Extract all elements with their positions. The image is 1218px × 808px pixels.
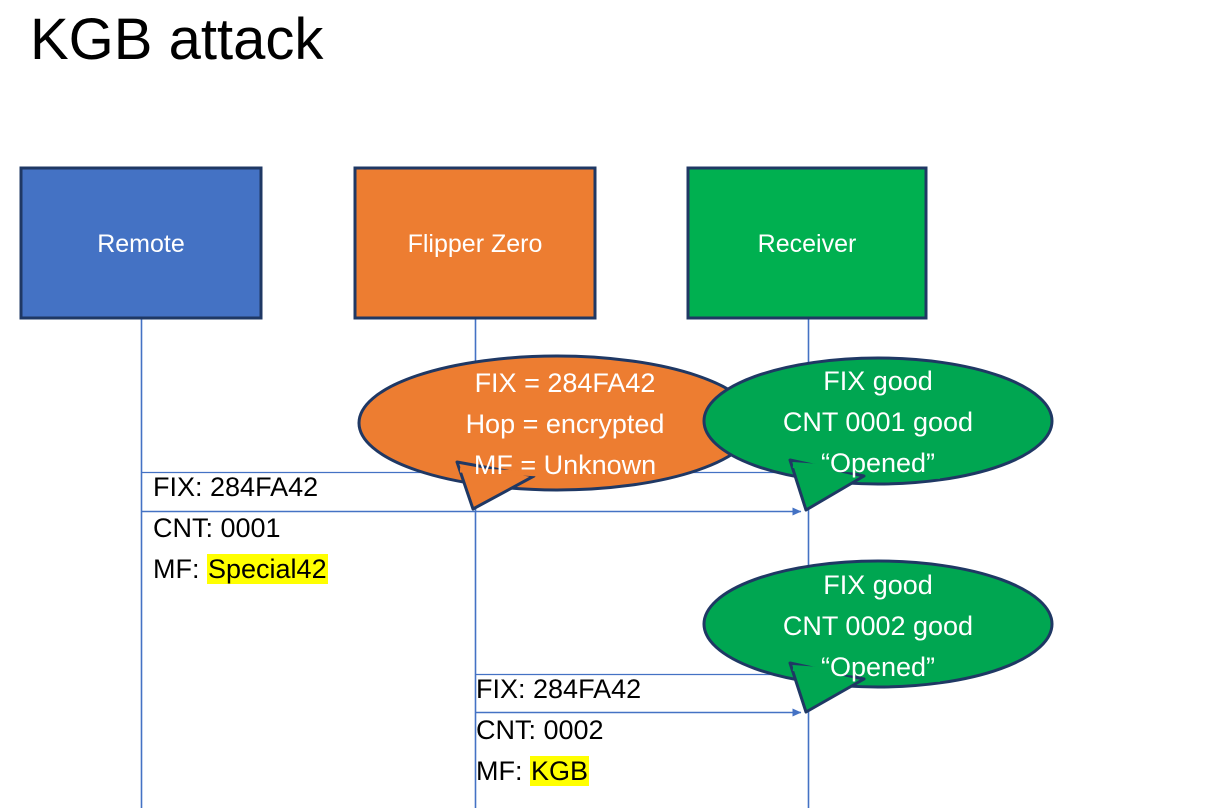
message-label: MF: xyxy=(476,756,530,786)
message-label: MF: xyxy=(153,554,207,584)
message-label: CNT: xyxy=(476,715,544,745)
message-value: 284FA42 xyxy=(210,472,318,502)
message-labels-flipper-to-receiver: FIX: 284FA42 CNT: 0002 MF: KGB xyxy=(476,669,641,792)
message-line: CNT: 0002 xyxy=(476,710,641,751)
message-line: MF: Special42 xyxy=(153,549,328,590)
message-labels-remote-to-receiver: FIX: 284FA42 CNT: 0001 MF: Special42 xyxy=(153,467,328,590)
message-value-highlighted: KGB xyxy=(530,756,589,786)
message-line: FIX: 284FA42 xyxy=(153,467,328,508)
message-value: 284FA42 xyxy=(533,674,641,704)
callout-receiver-second[interactable] xyxy=(704,561,1052,712)
message-label: FIX: xyxy=(153,472,210,502)
message-line: MF: KGB xyxy=(476,751,641,792)
message-value: 0002 xyxy=(544,715,604,745)
message-label: FIX: xyxy=(476,674,533,704)
message-line: FIX: 284FA42 xyxy=(476,669,641,710)
slide-canvas: KGB attack xyxy=(0,0,1218,808)
message-line: CNT: 0001 xyxy=(153,508,328,549)
message-label: CNT: xyxy=(153,513,221,543)
actor-label-flipper: Flipper Zero xyxy=(355,230,595,259)
actor-label-receiver: Receiver xyxy=(688,230,926,259)
callout-receiver-first[interactable] xyxy=(704,358,1052,510)
message-value: 0001 xyxy=(221,513,281,543)
callout-flipper-capture[interactable] xyxy=(359,356,755,509)
message-value-highlighted: Special42 xyxy=(207,554,328,584)
actor-label-remote: Remote xyxy=(21,230,261,259)
